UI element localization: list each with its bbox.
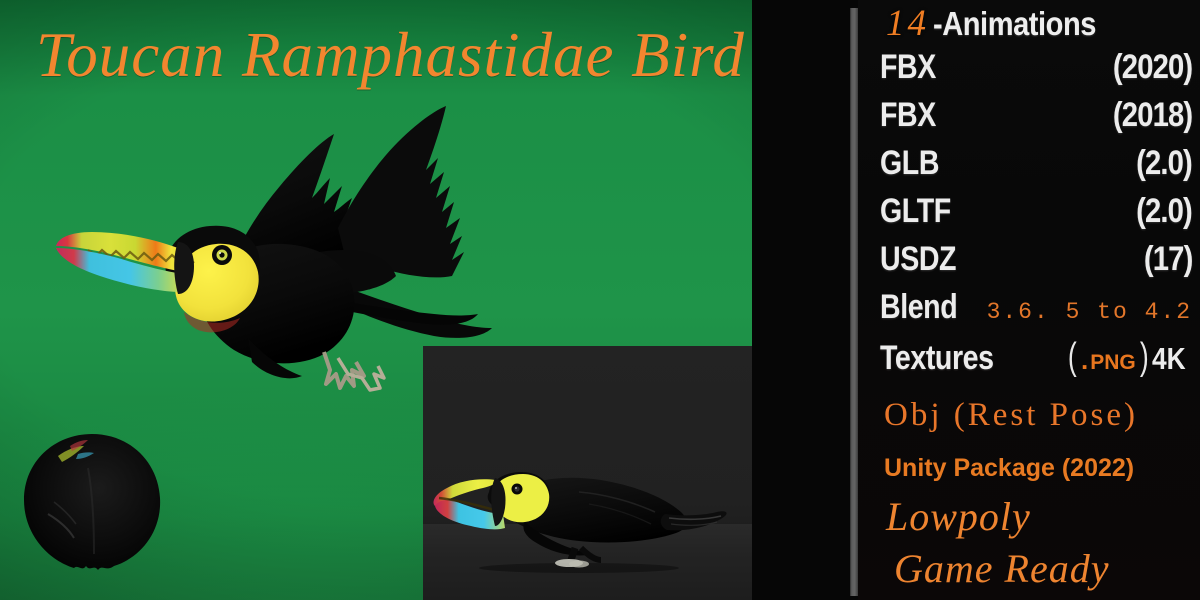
spec-value: (2020) (1113, 48, 1192, 87)
unity-package-row: Unity Package (2022) (872, 446, 1194, 490)
obj-rest-pose-row: Obj (Rest Pose) (872, 384, 1194, 446)
spec-value: 3.6. 5 to 4.2 (987, 299, 1192, 327)
vertical-divider (850, 8, 858, 596)
spec-key: Textures (880, 339, 994, 378)
spec-key: Blend (880, 288, 957, 327)
spec-value: (2.0) (1136, 144, 1192, 183)
spec-row-fbx-2018: FBX (2018) (872, 96, 1194, 144)
spec-row-usdz: USDZ (17) (872, 240, 1194, 288)
spec-value: (17) (1143, 240, 1192, 279)
textures-value-group: ( . PNG ) 4K (1066, 336, 1192, 379)
spec-value: (2.0) (1136, 192, 1192, 231)
spec-row-blend: Blend 3.6. 5 to 4.2 (872, 288, 1194, 336)
unity-package-label: Unity Package (2022) (884, 454, 1134, 483)
spec-key: GLTF (880, 192, 951, 231)
game-ready-tagline-row: Game Ready (872, 542, 1194, 594)
promo-banner: Toucan Ramphastidae Bird (0, 0, 1200, 600)
obj-label: Obj (Rest Pose) (884, 397, 1138, 434)
lowpoly-tagline-row: Lowpoly (872, 490, 1194, 542)
spec-key: FBX (880, 96, 936, 135)
curled-toucan-illustration (18, 428, 166, 578)
lowpoly-label: Lowpoly (886, 493, 1031, 540)
page-title: Toucan Ramphastidae Bird (36, 18, 745, 92)
spec-row-glb: GLB (2.0) (872, 144, 1194, 192)
spec-key: GLB (880, 144, 939, 183)
png-dot: . (1081, 345, 1088, 376)
standing-toucan-illustration (429, 456, 729, 596)
animation-label: -Animations (933, 5, 1096, 43)
spec-key: FBX (880, 48, 936, 87)
spec-list-panel: 14 -Animations FBX (2020) FBX (2018) GLB… (858, 0, 1200, 600)
paren-close: ) (1140, 336, 1149, 379)
spec-key: USDZ (880, 240, 956, 279)
animations-header: 14 -Animations (872, 2, 1194, 48)
animation-count: 14 (886, 2, 929, 45)
spec-row-textures: Textures ( . PNG ) 4K (872, 336, 1194, 384)
studio-preview-panel (423, 346, 752, 600)
resolution-label: 4K (1152, 341, 1186, 377)
game-ready-label: Game Ready (894, 545, 1109, 592)
paren-open: ( (1068, 336, 1077, 379)
spec-value: (2018) (1113, 96, 1192, 135)
spec-row-gltf: GLTF (2.0) (872, 192, 1194, 240)
png-label: PNG (1090, 351, 1136, 375)
spec-row-fbx-2020: FBX (2020) (872, 48, 1194, 96)
